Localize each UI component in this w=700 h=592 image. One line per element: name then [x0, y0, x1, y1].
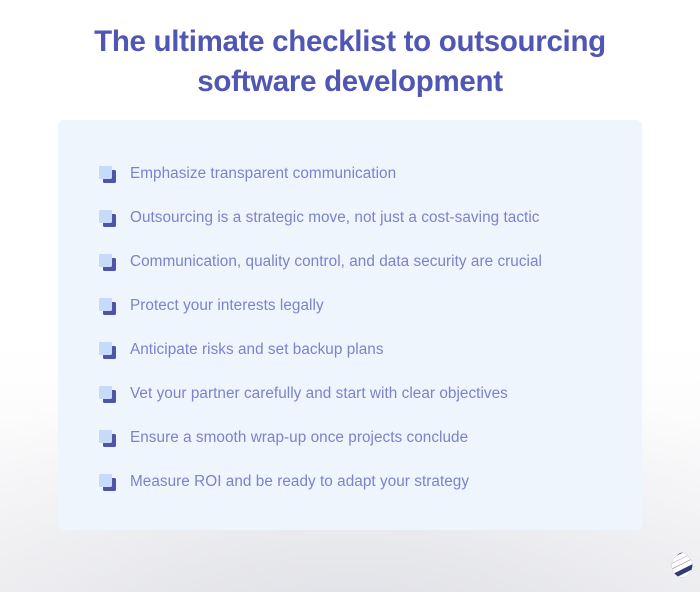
- checklist-item-label: Ensure a smooth wrap-up once projects co…: [130, 428, 468, 448]
- checkbox-icon-face: [99, 298, 112, 311]
- checklist-item-label: Communication, quality control, and data…: [130, 252, 542, 272]
- checkbox-icon: [99, 386, 116, 403]
- checkbox-icon-face: [99, 474, 112, 487]
- checklist-item[interactable]: Protect your interests legally: [99, 284, 609, 328]
- checklist-item[interactable]: Ensure a smooth wrap-up once projects co…: [99, 416, 609, 460]
- brand-logo-icon: [671, 552, 693, 578]
- checklist-item[interactable]: Vet your partner carefully and start wit…: [99, 372, 609, 416]
- checkbox-icon-face: [99, 342, 112, 355]
- checklist-item[interactable]: Anticipate risks and set backup plans: [99, 328, 609, 372]
- page-title-line-2: software development: [0, 62, 700, 102]
- checkbox-icon: [99, 210, 116, 227]
- checkbox-icon-face: [99, 430, 112, 443]
- checklist-item-label: Emphasize transparent communication: [130, 164, 396, 184]
- checkbox-icon: [99, 342, 116, 359]
- checklist-card: Emphasize transparent communicationOutso…: [58, 120, 642, 530]
- checkbox-icon-face: [99, 386, 112, 399]
- checkbox-icon: [99, 474, 116, 491]
- checklist-item[interactable]: Outsourcing is a strategic move, not jus…: [99, 196, 609, 240]
- checklist-item-label: Outsourcing is a strategic move, not jus…: [130, 208, 540, 228]
- checkbox-icon-face: [99, 210, 112, 223]
- checkbox-icon-face: [99, 166, 112, 179]
- checkbox-icon: [99, 298, 116, 315]
- checklist: Emphasize transparent communicationOutso…: [99, 152, 609, 504]
- checklist-item-label: Anticipate risks and set backup plans: [130, 340, 384, 360]
- page-title-line-1: The ultimate checklist to outsourcing: [0, 22, 700, 62]
- checklist-item-label: Vet your partner carefully and start wit…: [130, 384, 508, 404]
- checkbox-icon: [99, 166, 116, 183]
- checklist-item[interactable]: Measure ROI and be ready to adapt your s…: [99, 460, 609, 504]
- checkbox-icon-face: [99, 254, 112, 267]
- page-title: The ultimate checklist to outsourcing so…: [0, 22, 700, 102]
- checkbox-icon: [99, 430, 116, 447]
- checklist-item-label: Protect your interests legally: [130, 296, 324, 316]
- checkbox-icon: [99, 254, 116, 271]
- checklist-item[interactable]: Emphasize transparent communication: [99, 152, 609, 196]
- checklist-item-label: Measure ROI and be ready to adapt your s…: [130, 472, 469, 492]
- page-canvas: The ultimate checklist to outsourcing so…: [0, 0, 700, 592]
- checklist-item[interactable]: Communication, quality control, and data…: [99, 240, 609, 284]
